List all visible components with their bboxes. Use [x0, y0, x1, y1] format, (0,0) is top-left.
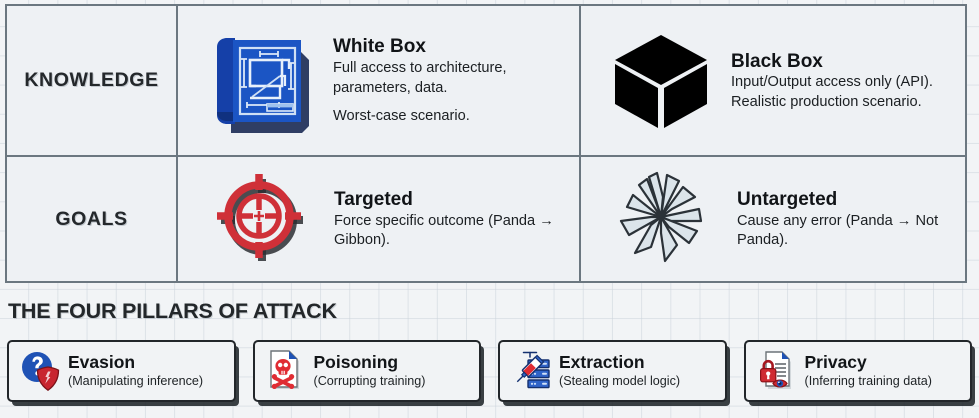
- syringe-server-icon: [510, 349, 552, 393]
- question-shield-icon: [19, 349, 61, 393]
- matrix-row-header-goals: GOALS: [7, 155, 178, 281]
- row-label: KNOWLEDGE: [24, 69, 158, 92]
- cell-desc-primary: Input/Output access only (API).: [731, 73, 933, 92]
- pillar-subtitle: (Stealing model logic): [559, 374, 680, 390]
- skull-document-icon: [265, 349, 307, 393]
- row-label: GOALS: [55, 208, 127, 231]
- pillar-title: Evasion: [68, 353, 203, 371]
- matrix-cell-black-box: Black Box Input/Output access only (API)…: [581, 6, 965, 155]
- matrix-cell-targeted: Targeted Force specific outcome (Panda →…: [178, 155, 581, 281]
- cell-title: White Box: [333, 36, 426, 57]
- crosshair-target-icon: [208, 167, 316, 271]
- cell-title: Black Box: [731, 51, 823, 72]
- pillar-card-privacy[interactable]: Privacy (Inferring training data): [744, 340, 973, 402]
- cell-title: Untargeted: [737, 189, 837, 210]
- matrix-cell-white-box: White Box Full access to architecture, p…: [178, 6, 581, 155]
- cell-desc-primary: Force specific outcome (Panda → Gibbon).: [334, 212, 579, 251]
- cell-desc-primary: Cause any error (Panda → Not Panda).: [737, 212, 965, 251]
- shattered-glass-icon: [609, 167, 719, 271]
- pillar-title: Poisoning: [314, 353, 426, 371]
- pillar-subtitle: (Manipulating inference): [68, 374, 203, 390]
- pillars-heading: THE FOUR PILLARS OF ATTACK: [8, 299, 337, 324]
- pillar-card-extraction[interactable]: Extraction (Stealing model logic): [498, 340, 727, 402]
- cell-title: Targeted: [334, 189, 413, 210]
- pillar-card-evasion[interactable]: Evasion (Manipulating inference): [7, 340, 236, 402]
- pillars-row: Evasion (Manipulating inference): [7, 340, 972, 402]
- pillar-title: Privacy: [805, 353, 932, 371]
- lock-eye-document-icon: [756, 349, 798, 393]
- pillar-card-poisoning[interactable]: Poisoning (Corrupting training): [253, 340, 482, 402]
- pillar-title: Extraction: [559, 353, 680, 371]
- cell-desc-primary: Full access to architecture, parameters,…: [333, 59, 579, 98]
- pillar-subtitle: (Inferring training data): [805, 374, 932, 390]
- black-cube-icon: [609, 29, 713, 133]
- pillar-subtitle: (Corrupting training): [314, 374, 426, 390]
- cell-desc-secondary: Worst-case scenario.: [333, 107, 579, 126]
- matrix-cell-untargeted: Untargeted Cause any error (Panda → Not …: [581, 155, 965, 281]
- blueprint-icon: [203, 29, 315, 133]
- matrix-row-header-knowledge: KNOWLEDGE: [7, 6, 178, 155]
- cell-desc-secondary: Realistic production scenario.: [731, 93, 933, 112]
- attack-taxonomy-matrix: KNOWLEDGE: [5, 4, 967, 283]
